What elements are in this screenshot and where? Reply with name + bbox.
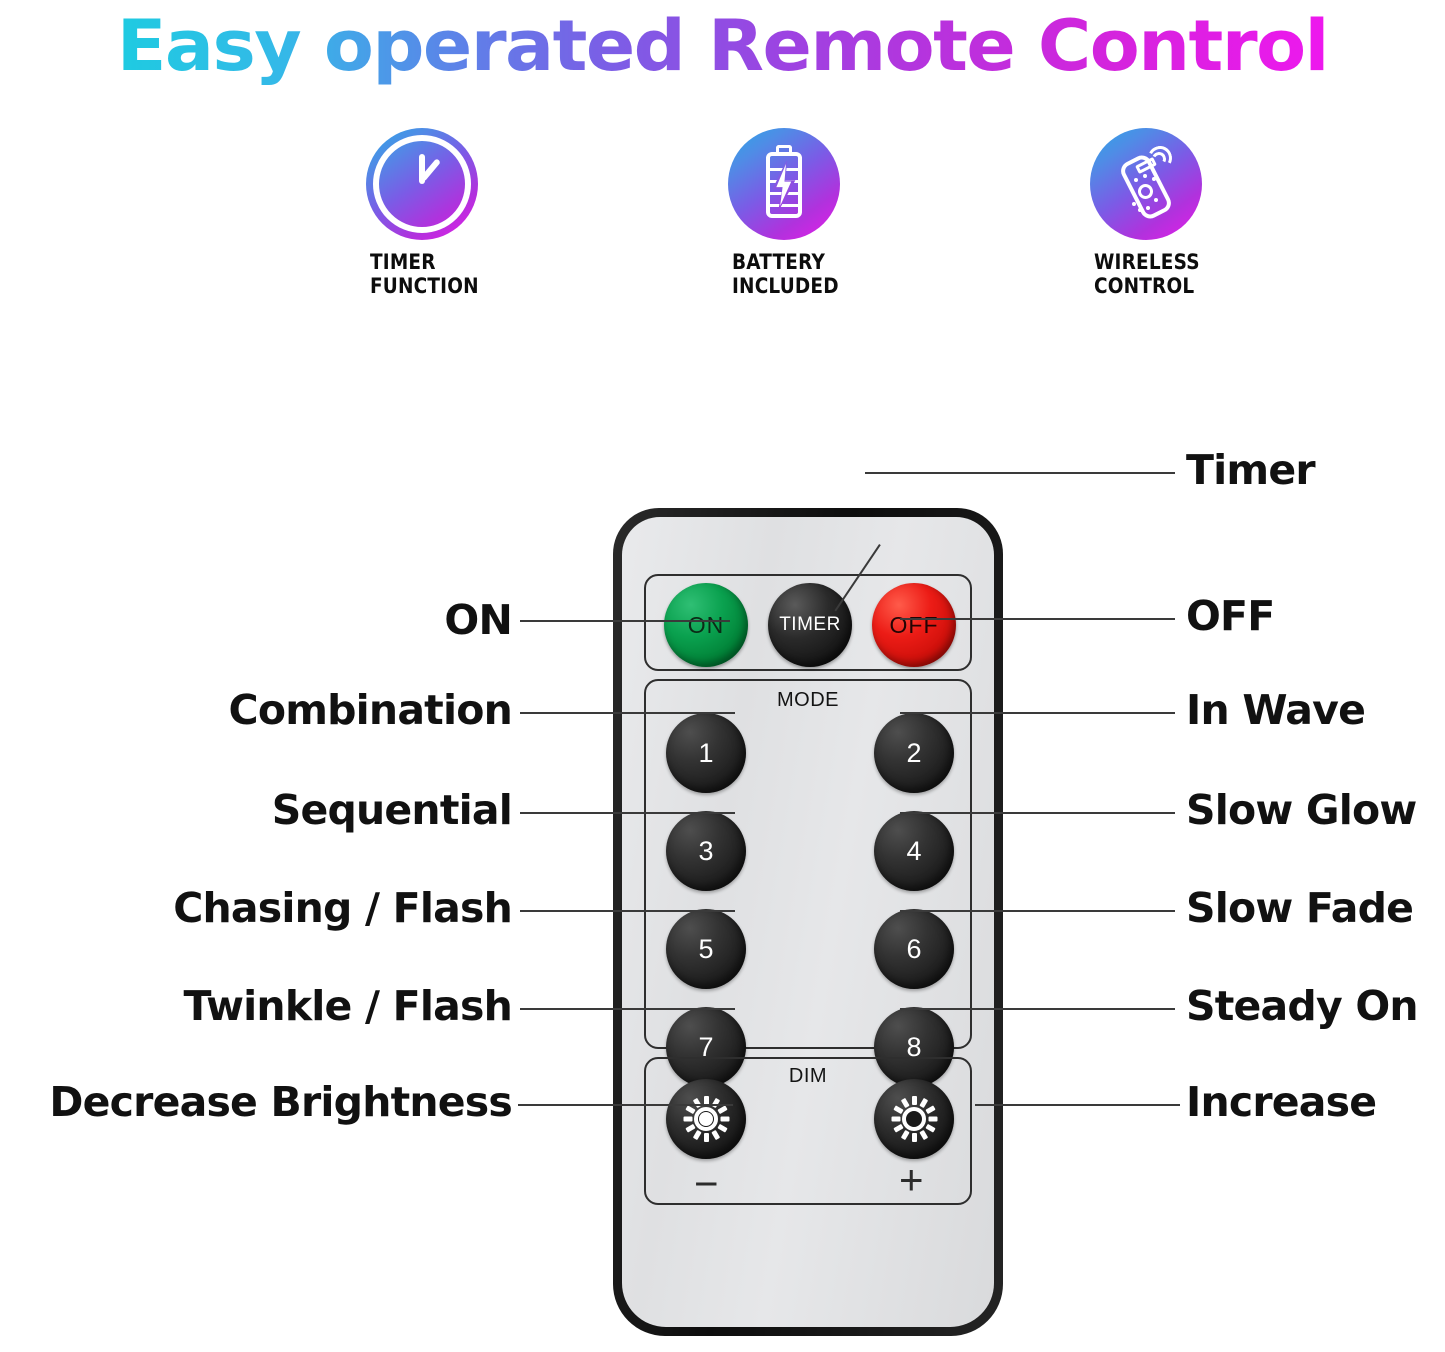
feature-timer-function: TIMER FUNCTION xyxy=(348,128,648,299)
dim-button-group: DIM xyxy=(644,1057,972,1205)
leader-line-twinkle xyxy=(520,1008,735,1010)
leader-line-chasing xyxy=(520,910,735,912)
brightness-decrease-icon xyxy=(683,1096,729,1142)
dim-minus-button[interactable] xyxy=(666,1079,746,1159)
leader-line-off xyxy=(900,618,1175,620)
on-button[interactable]: ON xyxy=(664,583,748,667)
leader-line-sequential xyxy=(520,812,735,814)
callout-chasing-flash: Chasing / Flash xyxy=(62,888,512,929)
clock-icon xyxy=(366,128,478,240)
page-title: Easy operated Remote Control xyxy=(117,5,1328,87)
remote-faceplate: ON TIMER OFF MODE 1 2 3 4 5 6 7 8 DIM xyxy=(622,517,994,1327)
feature-badges: TIMER FUNCTION BATTERY INCLUDED xyxy=(0,128,1445,318)
leader-line-slowglow xyxy=(900,812,1175,814)
feature-battery-included: BATTERY INCLUDED xyxy=(710,128,1010,299)
callout-sequential: Sequential xyxy=(112,790,512,831)
callout-off: OFF xyxy=(1186,596,1274,637)
mode-button-group: MODE 1 2 3 4 5 6 7 8 xyxy=(644,679,972,1049)
battery-icon xyxy=(728,128,840,240)
callout-steady-on: Steady On xyxy=(1186,986,1418,1027)
timer-button[interactable]: TIMER xyxy=(768,583,852,667)
remote-signal-icon xyxy=(1090,128,1202,240)
leader-line-steadyon xyxy=(900,1008,1175,1010)
callout-slow-fade: Slow Fade xyxy=(1186,888,1413,929)
feature-timer-label: TIMER FUNCTION xyxy=(370,250,615,299)
dim-plus-button[interactable] xyxy=(874,1079,954,1159)
callout-slow-glow: Slow Glow xyxy=(1186,790,1416,831)
mode-button-3[interactable]: 3 xyxy=(666,811,746,891)
feature-battery-label: BATTERY INCLUDED xyxy=(732,250,977,299)
leader-line-inwave xyxy=(900,712,1175,714)
callout-in-wave: In Wave xyxy=(1186,690,1365,731)
leader-line-on xyxy=(520,620,730,622)
remote-control-device: ON TIMER OFF MODE 1 2 3 4 5 6 7 8 DIM xyxy=(613,508,1003,1336)
callout-increase: Increase xyxy=(1186,1082,1376,1123)
header-banner: Easy operated Remote Control xyxy=(0,0,1445,92)
leader-line-slowfade xyxy=(900,910,1175,912)
callout-on: ON xyxy=(232,600,512,641)
leader-line-combination xyxy=(520,712,735,714)
dim-minus-symbol: − xyxy=(694,1163,719,1205)
callout-decrease-brightness: Decrease Brightness xyxy=(10,1082,512,1123)
power-button-group: ON TIMER OFF xyxy=(644,574,972,671)
mode-button-5[interactable]: 5 xyxy=(666,909,746,989)
mode-caption: MODE xyxy=(646,689,970,712)
dim-plus-symbol: + xyxy=(899,1159,924,1201)
mode-button-6[interactable]: 6 xyxy=(874,909,954,989)
leader-line-decrease xyxy=(518,1104,733,1106)
leader-line-timer xyxy=(865,472,1175,474)
callout-combination: Combination xyxy=(112,690,512,731)
feature-wireless-label: WIRELESS CONTROL xyxy=(1094,250,1339,299)
leader-line-increase xyxy=(975,1104,1180,1106)
callout-twinkle-flash: Twinkle / Flash xyxy=(62,986,512,1027)
feature-wireless-control: WIRELESS CONTROL xyxy=(1072,128,1372,299)
off-button[interactable]: OFF xyxy=(872,583,956,667)
callout-timer: Timer xyxy=(1186,450,1315,491)
mode-button-1[interactable]: 1 xyxy=(666,713,746,793)
brightness-increase-icon xyxy=(891,1096,937,1142)
mode-button-2[interactable]: 2 xyxy=(874,713,954,793)
mode-button-4[interactable]: 4 xyxy=(874,811,954,891)
